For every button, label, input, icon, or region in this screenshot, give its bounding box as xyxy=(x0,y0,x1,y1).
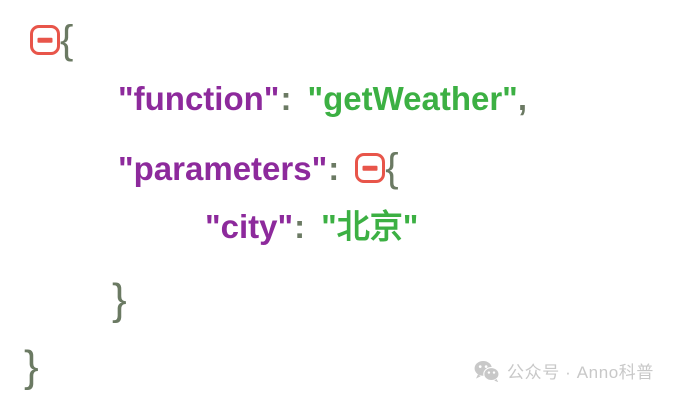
json-line-parameters-close: } xyxy=(112,278,127,322)
parameters-close-brace: } xyxy=(112,278,127,322)
wechat-icon xyxy=(474,360,500,382)
json-colon: : xyxy=(280,82,291,115)
json-value-function[interactable]: "getWeather" xyxy=(307,82,517,115)
json-value-city[interactable]: "北京" xyxy=(321,210,418,243)
json-line-root-open: { xyxy=(30,20,73,60)
collapse-minus-icon[interactable] xyxy=(30,25,60,55)
watermark: 公众号 · Anno科普 xyxy=(474,358,654,383)
json-line-city: "city" : "北京" xyxy=(205,210,418,243)
json-key-parameters[interactable]: "parameters" xyxy=(118,152,327,185)
json-colon: : xyxy=(328,152,339,185)
json-key-function[interactable]: "function" xyxy=(118,82,279,115)
json-line-function: "function" : "getWeather" , xyxy=(118,82,527,115)
json-key-city[interactable]: "city" xyxy=(205,210,293,243)
watermark-text: 公众号 · Anno科普 xyxy=(507,358,654,383)
json-line-parameters: "parameters" : { xyxy=(118,148,399,188)
json-colon: : xyxy=(294,210,305,243)
parameters-open-brace: { xyxy=(385,148,398,188)
root-open-brace: { xyxy=(60,20,73,60)
collapse-minus-icon[interactable] xyxy=(355,153,385,183)
json-comma: , xyxy=(518,82,527,115)
json-line-root-close: } xyxy=(24,345,39,389)
json-viewer: { "function" : "getWeather" , "parameter… xyxy=(0,0,699,405)
root-close-brace: } xyxy=(24,345,39,389)
